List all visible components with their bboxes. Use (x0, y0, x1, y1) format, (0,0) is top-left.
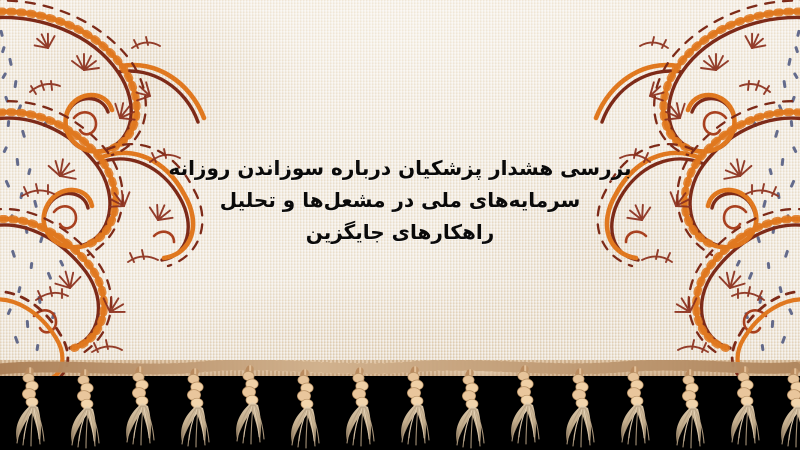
title-line-2: سرمایه‌های ملی در مشعل‌ها و تحلیل (60, 184, 740, 216)
page-title: بررسی هشدار پزشکیان درباره سوزاندن روزان… (0, 152, 800, 248)
title-line-1: بررسی هشدار پزشکیان درباره سوزاندن روزان… (60, 152, 740, 184)
fabric-panel: بررسی هشدار پزشکیان درباره سوزاندن روزان… (0, 0, 800, 376)
title-line-3: راهکارهای جایگزین (60, 216, 740, 248)
black-backdrop (0, 376, 800, 450)
banner-stage: بررسی هشدار پزشکیان درباره سوزاندن روزان… (0, 0, 800, 450)
fabric-hem-edge (0, 361, 800, 376)
